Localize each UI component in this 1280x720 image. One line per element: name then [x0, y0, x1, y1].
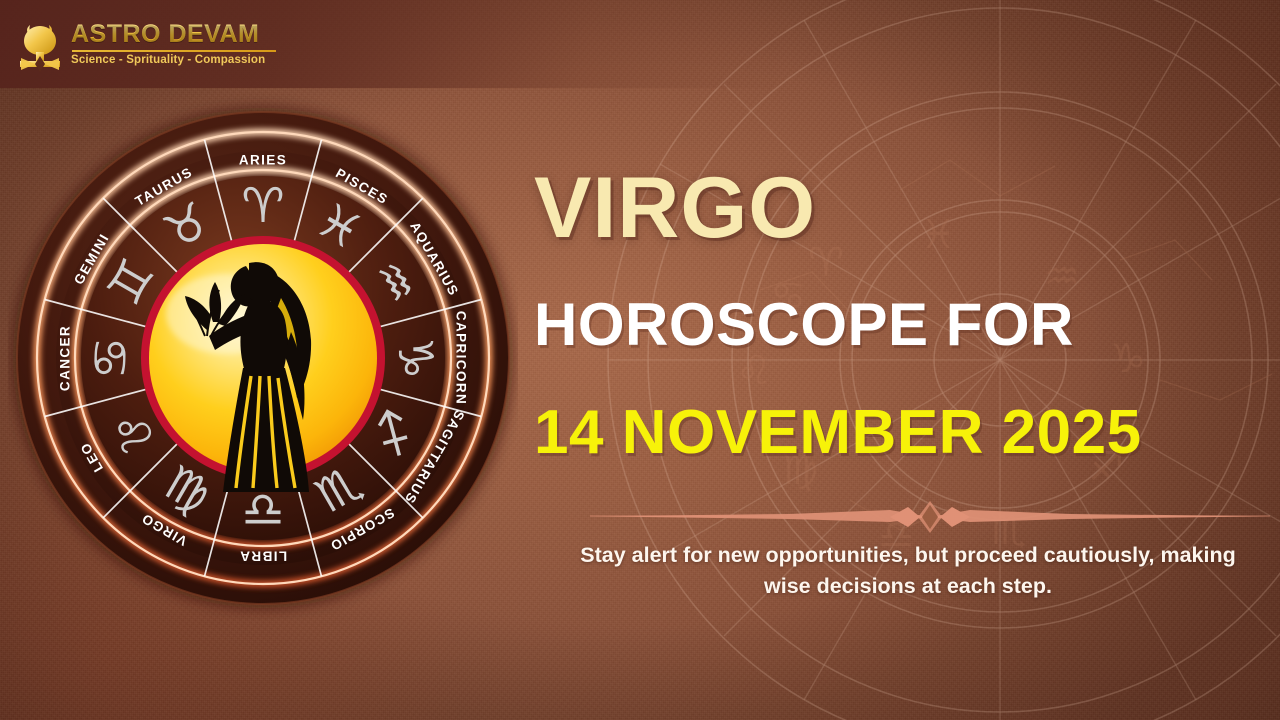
headline-block: VIRGO HOROSCOPE FOR 14 NOVEMBER 2025 S	[530, 0, 1280, 720]
page-title-line2: HOROSCOPE FOR	[534, 295, 1074, 355]
zodiac-label-cancer[interactable]: CANCER	[58, 325, 73, 391]
cancer-crab-icon: ♋	[83, 336, 139, 379]
zodiac-label-libra[interactable]: LIBRA	[239, 549, 287, 564]
poster-canvas: ♈ ♓ ♒ ♑ ♐ ♏ ♎ ♍ ♌ ♋	[0, 0, 1280, 720]
page-title-sign: VIRGO	[534, 165, 816, 251]
astro-devam-kalash-icon	[18, 12, 62, 74]
capricorn-goat-icon: ♑	[387, 336, 443, 379]
zodiac-label-capricorn[interactable]: CAPRICORN	[454, 311, 469, 405]
zodiac-wheel[interactable]: ♈♓♒♑♐♏♎♍♌♋♊♉ ARIESPISCESAQUARIUSCAPRICOR…	[8, 92, 518, 620]
page-title-date: 14 NOVEMBER 2025	[534, 402, 1142, 464]
brand-name: ASTRO DEVAM	[71, 22, 276, 47]
zodiac-label-aries[interactable]: ARIES	[239, 153, 287, 168]
horoscope-description: Stay alert for new opportunities, but pr…	[572, 540, 1244, 601]
brand-rule	[72, 50, 276, 52]
aries-ram-icon: ♈	[241, 178, 284, 234]
brand-logo[interactable]: ASTRO DEVAM Science - Sprituality - Comp…	[18, 10, 318, 76]
ornamental-diamond-divider-icon	[590, 495, 1270, 539]
brand-tagline: Science - Sprituality - Compassion	[71, 55, 276, 67]
